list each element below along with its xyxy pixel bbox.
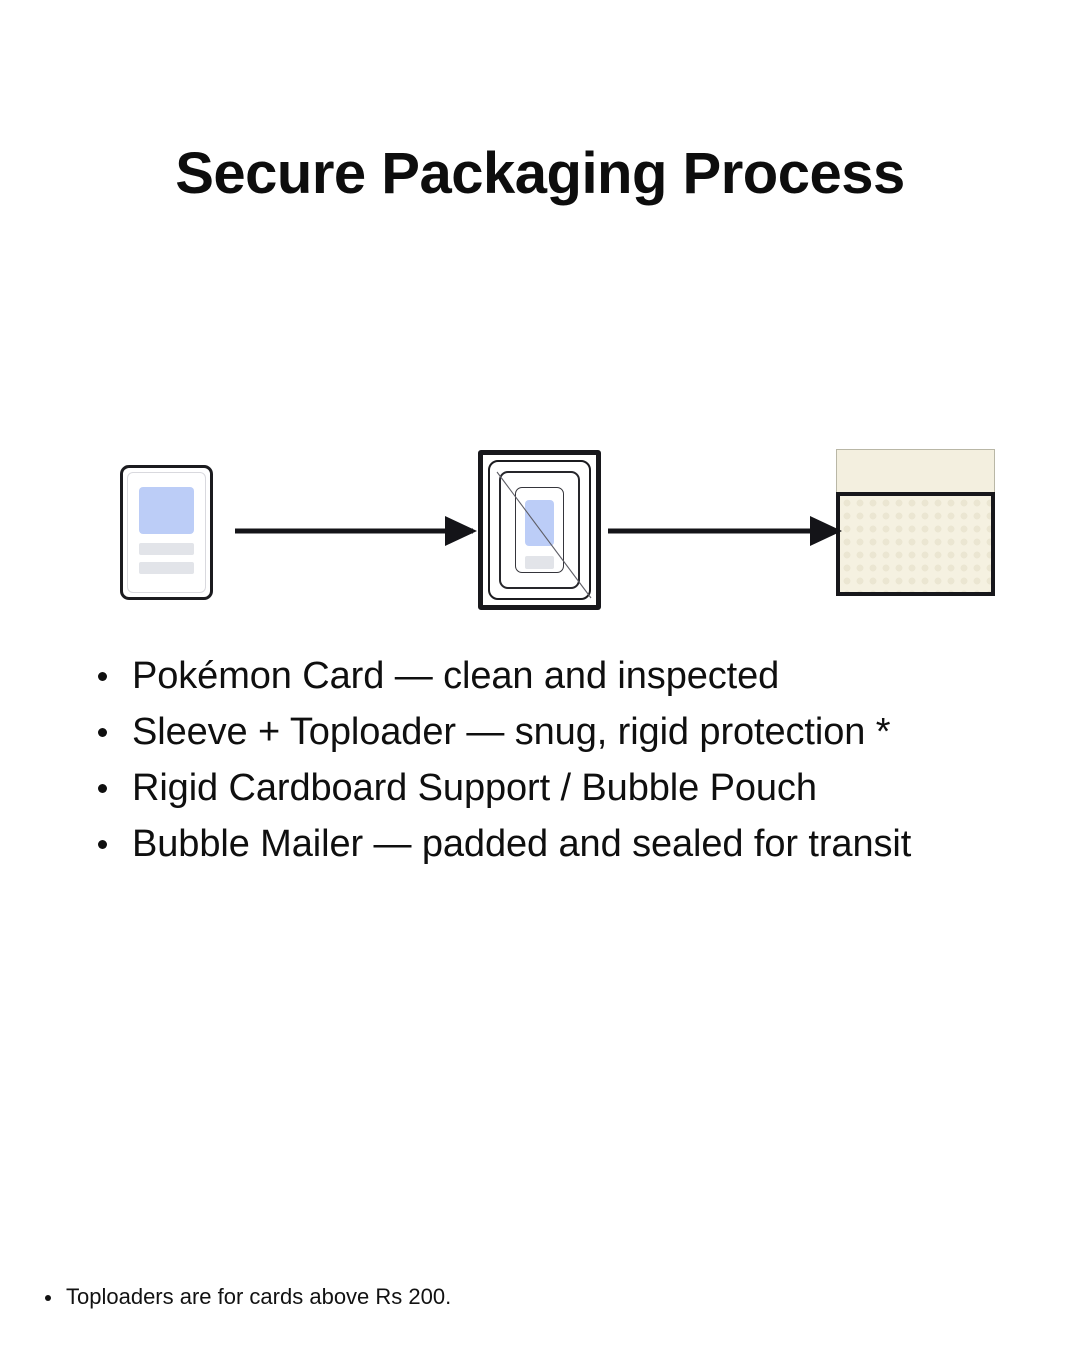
footnote-label: Toploaders are for cards above Rs 200. <box>66 1284 451 1309</box>
footnote-item: Toploaders are for cards above Rs 200. <box>34 1281 934 1313</box>
list-item: Pokémon Card — clean and inspected <box>86 648 1036 704</box>
list-item-label: Pokémon Card — clean and inspected <box>132 655 779 697</box>
footnote-list: Toploaders are for cards above Rs 200. <box>34 1281 934 1313</box>
list-item: Sleeve + Toploader — snug, rigid protect… <box>86 704 1036 760</box>
list-item-label: Rigid Cardboard Support / Bubble Pouch <box>132 767 817 809</box>
bullet-dot-icon <box>98 672 107 681</box>
bullet-dot-icon <box>98 728 107 737</box>
list-item-label: Sleeve + Toploader — snug, rigid protect… <box>132 711 890 753</box>
list-item: Bubble Mailer — padded and sealed for tr… <box>86 816 1036 872</box>
packaging-steps-list: Pokémon Card — clean and inspected Sleev… <box>86 648 1036 872</box>
bullet-dot-icon <box>98 840 107 849</box>
list-item: Rigid Cardboard Support / Bubble Pouch <box>86 760 1036 816</box>
bullet-dot-icon <box>98 784 107 793</box>
list-item-label: Bubble Mailer — padded and sealed for tr… <box>132 823 911 865</box>
bullet-dot-icon <box>45 1295 51 1301</box>
